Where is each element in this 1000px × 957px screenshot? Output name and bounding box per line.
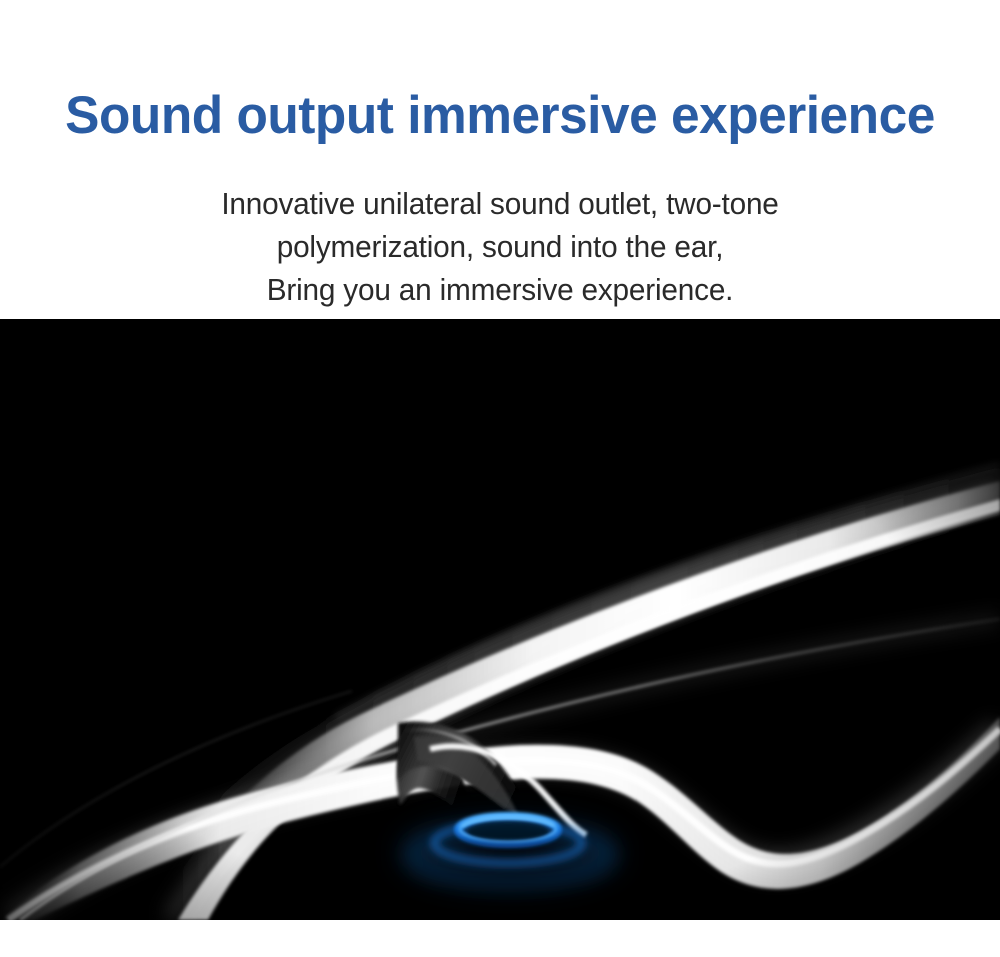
product-hero-image [0,319,1000,920]
product-detail-page: Sound output immersive experience Innova… [0,0,1000,957]
subtitle-line-3: Bring you an immersive experience. [20,268,980,311]
footer-whitespace [0,920,1000,957]
header-text-block: Sound output immersive experience Innova… [0,0,1000,319]
subtitle-line-2: polymerization, sound into the ear, [20,225,980,268]
photo-vignette [0,319,1000,920]
page-title: Sound output immersive experience [15,86,985,146]
subtitle-line-1: Innovative unilateral sound outlet, two-… [20,182,980,225]
product-illustration [0,319,1000,920]
page-subtitle: Innovative unilateral sound outlet, two-… [0,182,1000,311]
